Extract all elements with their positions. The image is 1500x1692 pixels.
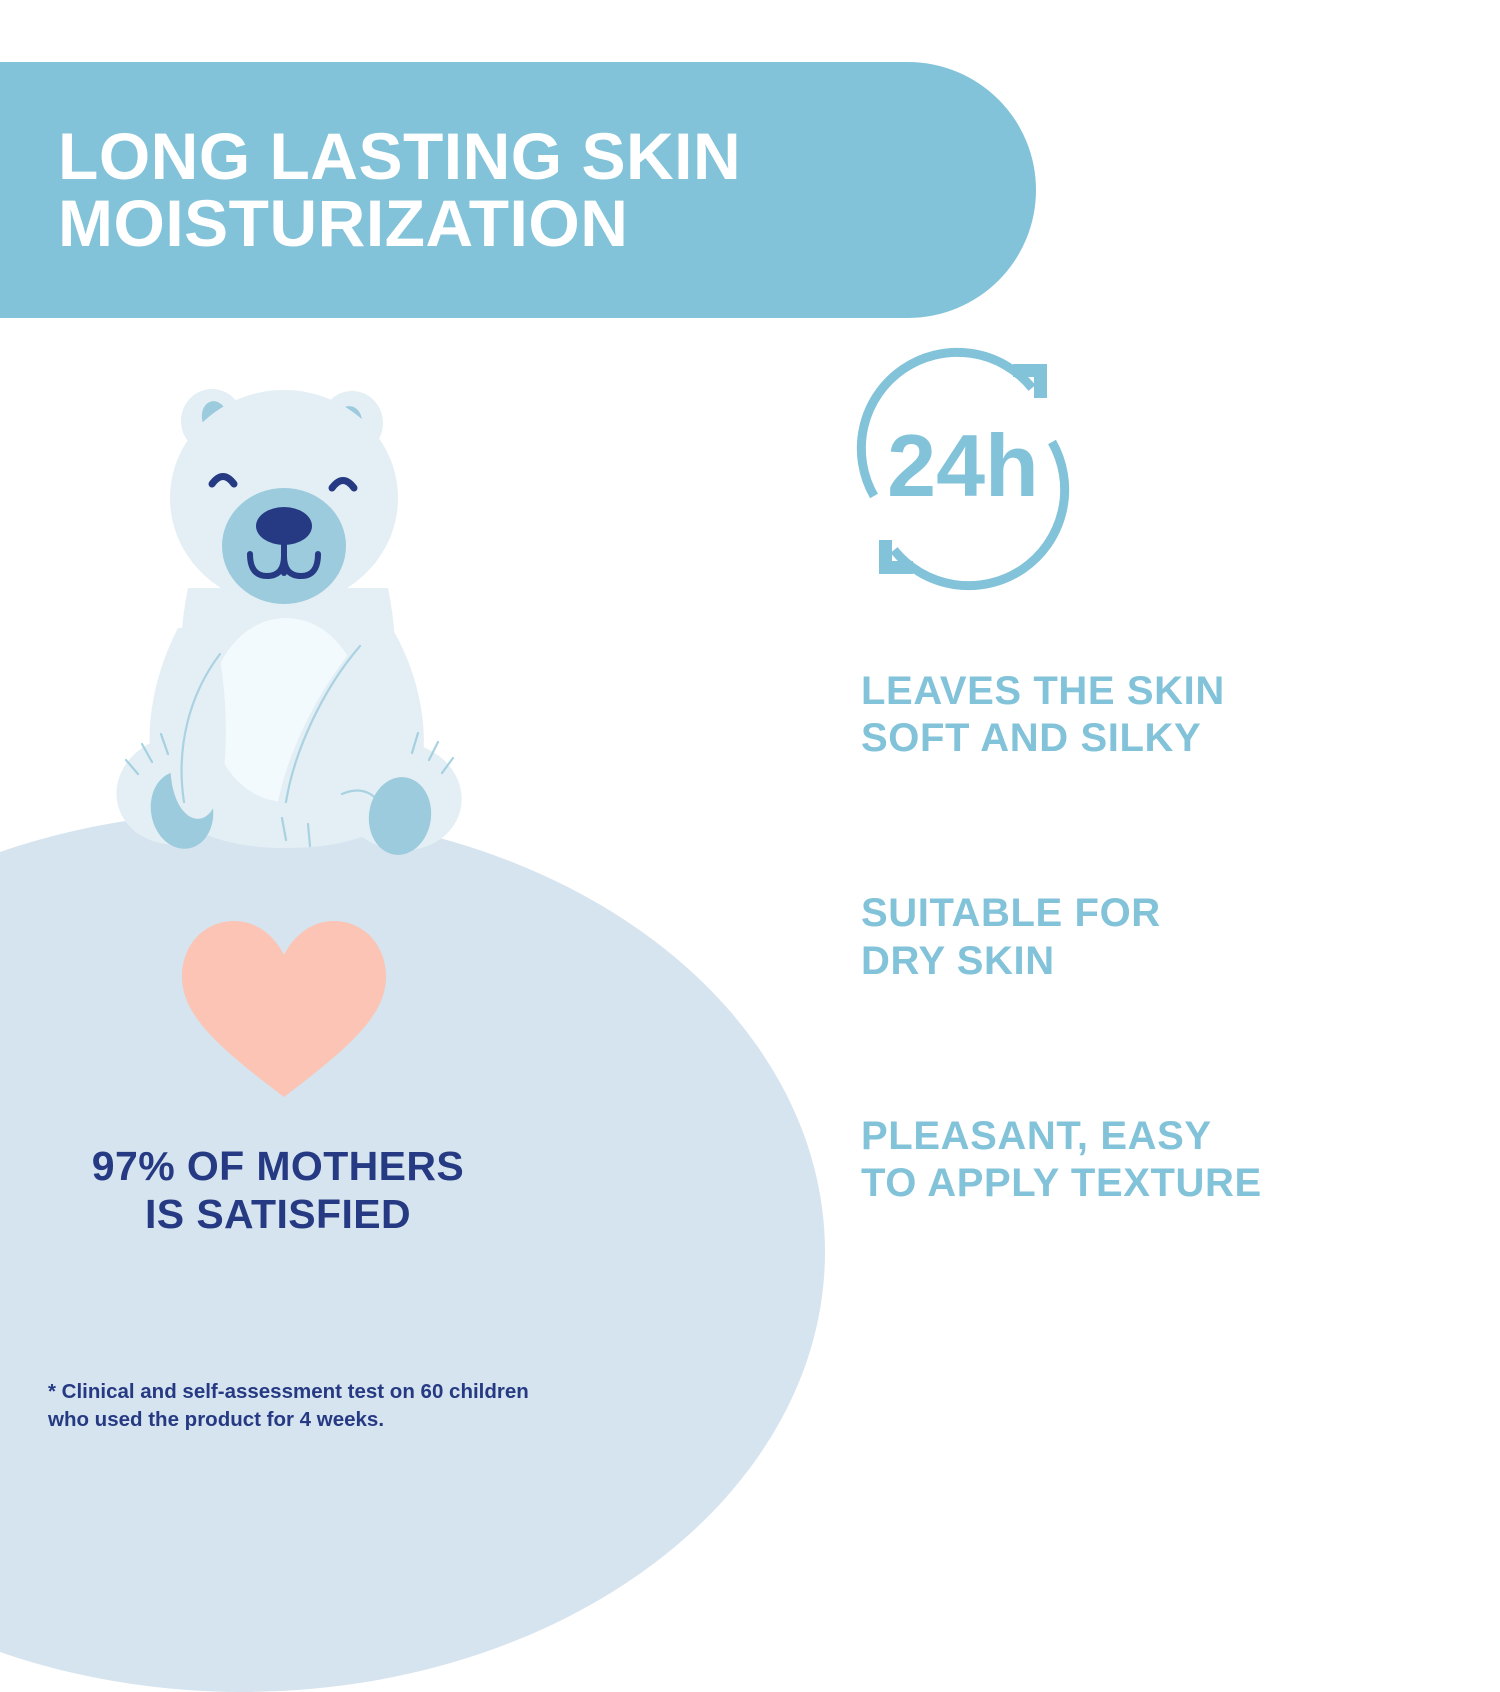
footnote-disclaimer: * Clinical and self-assessment test on 6… — [48, 1378, 688, 1435]
feature-item-easy-texture: PLEASANT, EASY TO APPLY TEXTURE — [861, 1113, 1461, 1207]
header-banner: LONG LASTING SKIN MOISTURIZATION — [0, 62, 1036, 318]
feature-item-leaves-skin-soft: LEAVES THE SKIN SOFT AND SILKY — [861, 668, 1461, 762]
badge-label: 24h — [887, 416, 1039, 515]
polar-bear-illustration — [60, 378, 510, 878]
feature-item-suitable-dry-skin: SUITABLE FOR DRY SKIN — [861, 890, 1461, 984]
24h-badge: 24h — [838, 344, 1088, 594]
heart-icon — [178, 915, 390, 1101]
feature-list: LEAVES THE SKIN SOFT AND SILKY SUITABLE … — [861, 668, 1461, 1207]
page-title: LONG LASTING SKIN MOISTURIZATION — [0, 123, 781, 258]
stat-background-blob — [0, 812, 825, 1692]
stat-satisfaction-text: 97% OF MOTHERS IS SATISFIED — [0, 1142, 556, 1239]
